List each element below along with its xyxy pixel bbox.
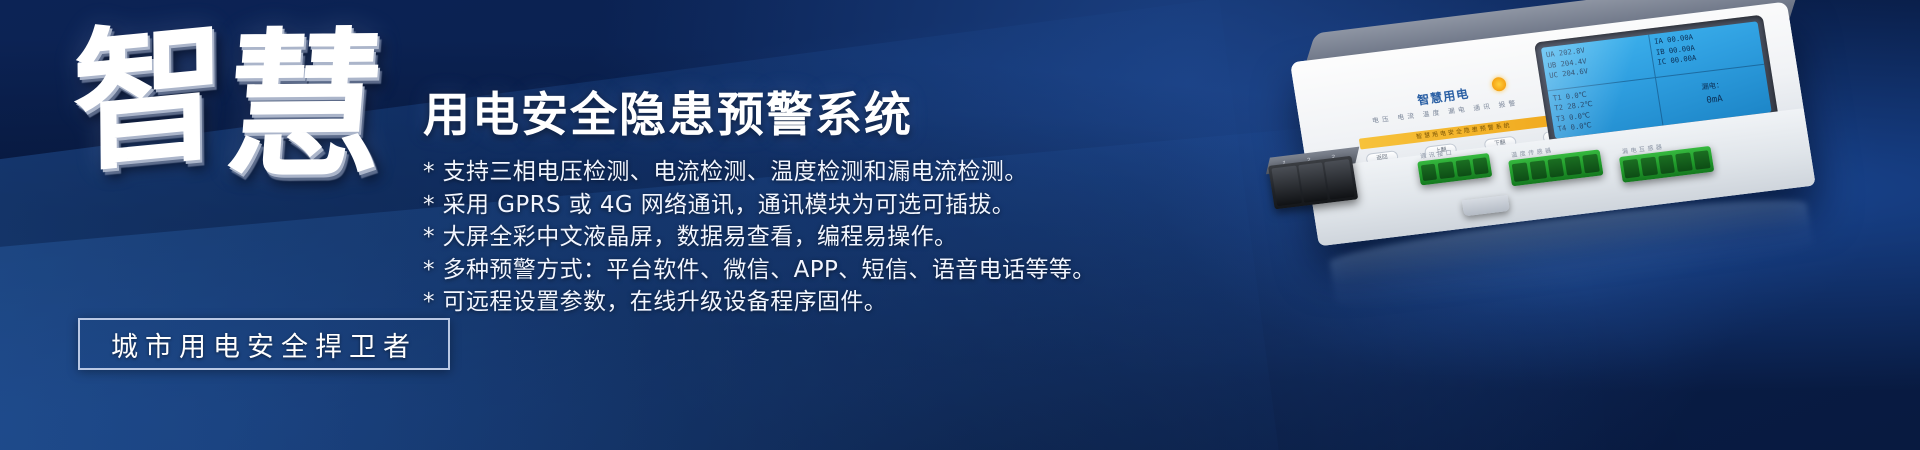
terminal-pin	[1582, 154, 1600, 174]
sun-icon	[1491, 76, 1507, 92]
terminal-pin	[1640, 157, 1658, 177]
terminal-pin	[1547, 158, 1565, 178]
slogan-box: 城市用电安全捍卫者	[78, 318, 450, 370]
feature-list: * 支持三相电压检测、电流检测、温度检测和漏电流检测。 * 采用 GPRS 或 …	[423, 156, 1123, 319]
terminal-pin	[1455, 159, 1472, 177]
calligraphy-title: 智慧	[65, 11, 418, 301]
terminal-pin	[1676, 152, 1694, 172]
terminal-pin	[1565, 156, 1583, 176]
page-title: 用电安全隐患预警系统	[423, 88, 1123, 144]
terminal-pin	[1438, 161, 1455, 179]
calligraphy-char-hui: 慧	[219, 26, 397, 186]
list-item: * 采用 GPRS 或 4G 网络通讯，通讯模块为可选可插拔。	[423, 189, 1123, 222]
list-item: * 大屏全彩中文液晶屏，数据易查看，编程易操作。	[423, 221, 1123, 254]
terminal-pin	[1623, 159, 1641, 179]
terminal-pin	[1472, 157, 1489, 175]
list-item: * 多种预警方式：平台软件、微信、APP、短信、语音电话等等。	[423, 254, 1123, 287]
terminal-pin	[1271, 166, 1301, 207]
calligraphy-char-zhi: 智	[72, 13, 233, 181]
terminal-pin	[1421, 164, 1438, 182]
promo-banner: 智慧 城市用电安全捍卫者 用电安全隐患预警系统 * 支持三相电压检测、电流检测、…	[0, 0, 1920, 450]
slogan-text: 城市用电安全捍卫者	[111, 325, 417, 364]
list-item: * 可远程设置参数，在线升级设备程序固件。	[423, 286, 1123, 319]
terminal-pin	[1658, 155, 1676, 175]
copy-block: 用电安全隐患预警系统 * 支持三相电压检测、电流检测、温度检测和漏电流检测。 *…	[423, 88, 1123, 319]
terminal-pin	[1324, 159, 1354, 200]
terminal-pin	[1693, 150, 1711, 170]
product-device-image: 智慧用电 电压 电流 温度 漏电 通讯 报警 智慧用电安全隐患预警系统 返回 上…	[1226, 0, 1920, 388]
terminal-pin	[1512, 162, 1530, 182]
terminal-pin	[1298, 162, 1328, 203]
list-item: * 支持三相电压检测、电流检测、温度检测和漏电流检测。	[423, 156, 1123, 189]
terminal-pin	[1529, 160, 1547, 180]
